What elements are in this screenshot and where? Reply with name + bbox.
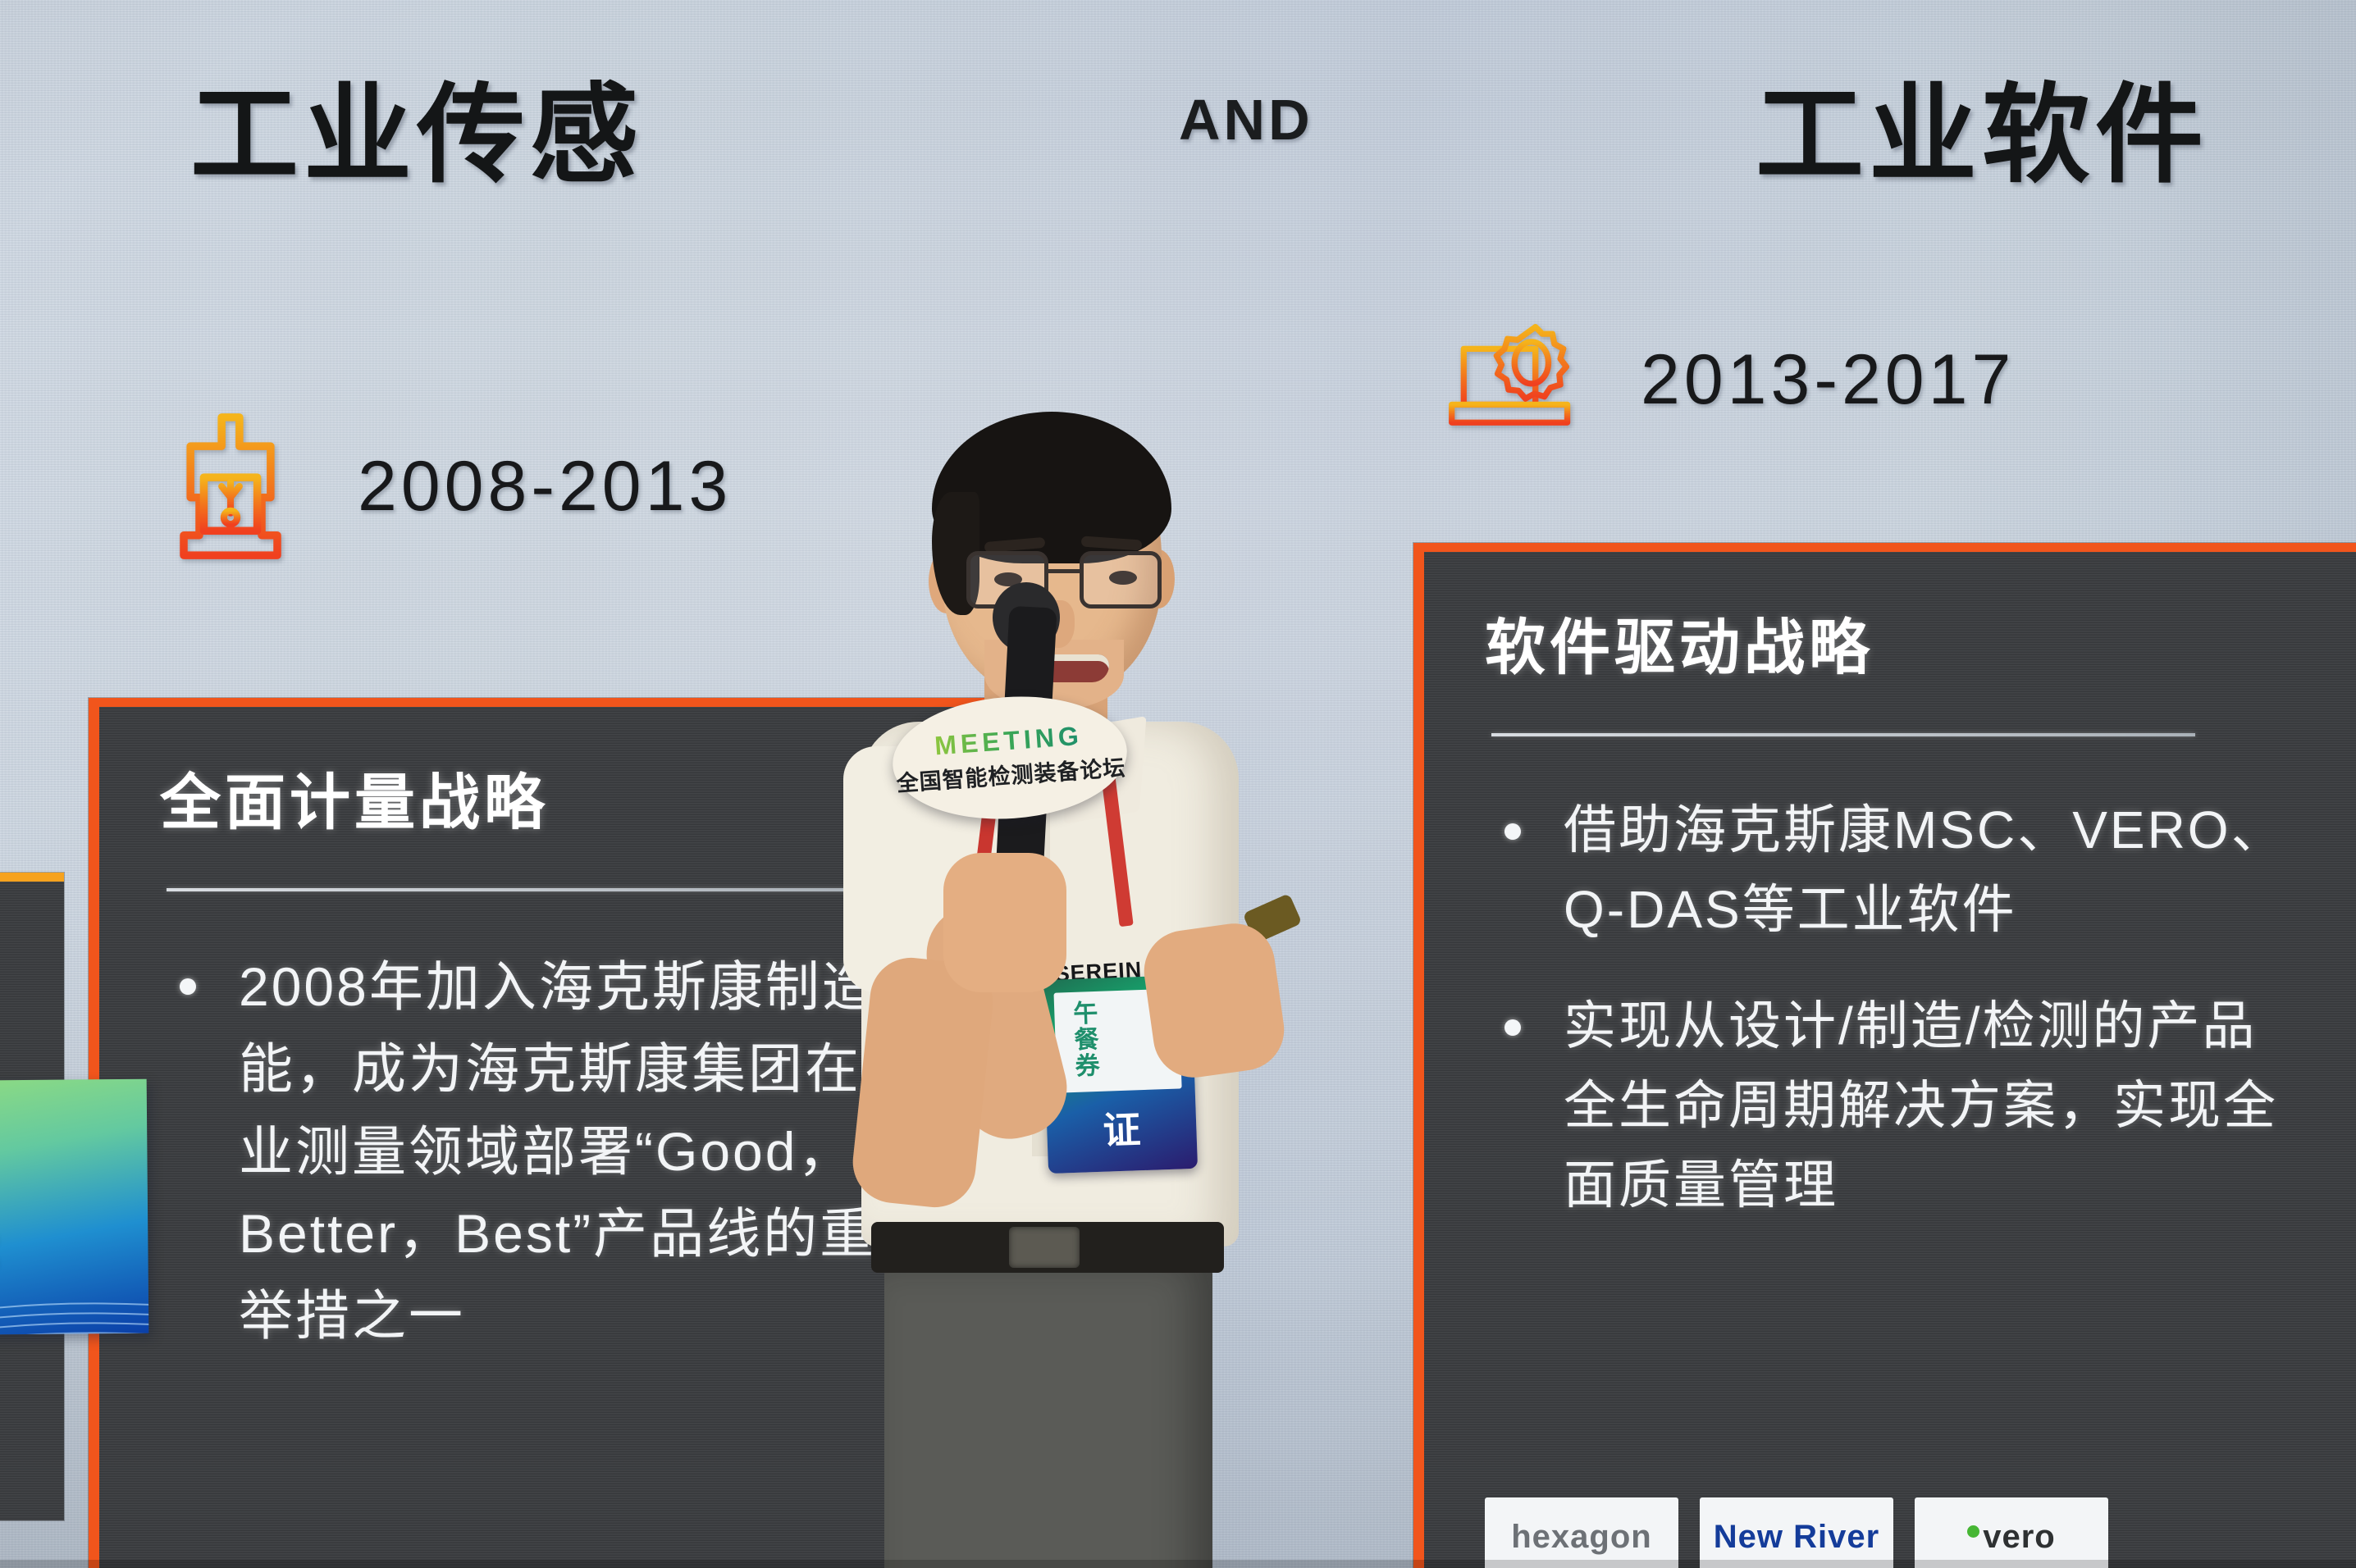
vero-dot-icon: [1967, 1525, 1979, 1538]
speaker-person: SEREIN a part of hexagon 午餐券 证 MEETING 全…: [738, 394, 1345, 1568]
list-item: 借助海克斯康MSC、VERO、Q-DAS等工业软件: [1485, 791, 2303, 950]
card-right-bullet-list: 借助海克斯康MSC、VERO、Q-DAS等工业软件 实现从设计/制造/检测的产品…: [1485, 791, 2303, 1225]
list-item: 实现从设计/制造/检测的产品全生命周期解决方案，实现全面质量管理: [1485, 987, 2303, 1226]
hand-holding-microphone: [943, 853, 1066, 992]
vero-logo: vero: [1915, 1497, 2108, 1568]
glasses-bridge: [1048, 569, 1081, 573]
badge-voucher-text: 午餐券: [1064, 1000, 1103, 1079]
laptop-gear-icon: [1444, 302, 1583, 458]
headline-right-title: 工业软件: [1756, 48, 2208, 204]
vero-logo-text: vero: [1983, 1519, 2056, 1555]
era-row-right: 2013-2017: [1444, 302, 2015, 458]
hexagon-logo-text: hexagon: [1511, 1519, 1651, 1556]
hand-right: [1139, 918, 1289, 1083]
hexagon-logo: hexagon: [1485, 1497, 1678, 1568]
slide-headline-row: 工业传感 AND 工业软件: [0, 48, 2356, 203]
headline-conjunction: AND: [1179, 87, 1313, 153]
card-right-title: 软件驱动战略: [1485, 613, 2303, 682]
era-years-left: 2008-2013: [358, 446, 732, 527]
presentation-stage-photo: 工业传感 AND 工业软件 2008-2013: [0, 0, 2356, 1568]
slide-card-right: 软件驱动战略 借助海克斯康MSC、VERO、Q-DAS等工业软件 实现从设计/制…: [1413, 543, 2356, 1568]
card-right-divider: [1491, 733, 2195, 736]
trousers: [884, 1263, 1212, 1568]
partner-logo-strip: hexagon New River vero: [1485, 1497, 2108, 1568]
microphone-flag-event: 全国智能检测装备论坛: [895, 750, 1126, 797]
stage-floor-edge: [0, 1560, 2356, 1568]
forum-signage-card: 论坛: [0, 1079, 148, 1336]
era-row-left: 2008-2013: [161, 408, 732, 564]
new-river-logo-text: New River: [1714, 1519, 1879, 1556]
cnc-machine-icon: [161, 408, 300, 564]
new-river-logo: New River: [1700, 1497, 1893, 1568]
belt-buckle: [1009, 1227, 1080, 1268]
era-years-right: 2013-2017: [1641, 340, 2015, 421]
forearm-left: [849, 954, 998, 1211]
lens-right: [1080, 551, 1162, 609]
badge-label: 证: [1046, 1098, 1197, 1157]
wave-decoration-icon: [0, 1231, 148, 1335]
headline-left-title: 工业传感: [190, 48, 643, 204]
